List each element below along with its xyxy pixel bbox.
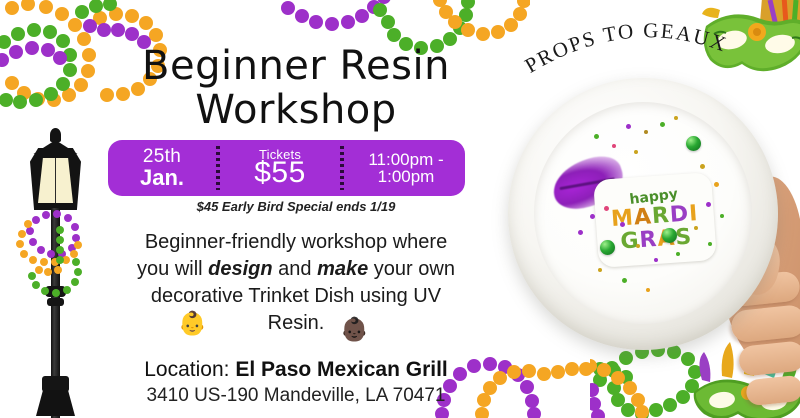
brand-arc-label: PROPS TO GEAUX bbox=[521, 18, 731, 77]
description-line-2-e: your own bbox=[368, 258, 455, 280]
description-emphasis-design: design bbox=[208, 258, 272, 280]
early-bird-note: $45 Early Bird Special ends 1/19 bbox=[96, 199, 496, 214]
description-line-2-c: and bbox=[273, 258, 317, 280]
event-details-banner: 25th Jan. Tickets $55 11:00pm - 1:00pm bbox=[108, 140, 465, 196]
page-title: Beginner Resin Workshop bbox=[96, 44, 496, 132]
event-time-end: 1:00pm bbox=[344, 168, 468, 185]
trinket-dish-photo: happy MARDI GRAS bbox=[498, 70, 800, 370]
sticker-gras-text: GRAS bbox=[620, 226, 693, 253]
location-line: Location: El Paso Mexican Grill bbox=[86, 358, 506, 382]
green-bead-1 bbox=[686, 136, 701, 151]
green-bead-2 bbox=[662, 228, 677, 243]
venue-address: 3410 US-190 Mandeville, LA 70471 bbox=[86, 385, 506, 407]
description-line-1: Beginner-friendly workshop where bbox=[86, 229, 506, 256]
venue-name: El Paso Mexican Grill bbox=[235, 358, 447, 381]
ceramic-dish: happy MARDI GRAS bbox=[508, 78, 778, 350]
ticket-price-block: Tickets $55 bbox=[220, 148, 340, 188]
king-cake-baby-icon-light: 👶 bbox=[178, 312, 207, 335]
ticket-price: $55 bbox=[220, 158, 340, 188]
dish-resin-surface: happy MARDI GRAS bbox=[534, 102, 752, 324]
description-line-4: Resin. bbox=[86, 310, 506, 337]
workshop-description: Beginner-friendly workshop where you wil… bbox=[86, 229, 506, 337]
description-line-3: decorative Trinket Dish using UV bbox=[86, 283, 506, 310]
event-month: Jan. bbox=[108, 167, 216, 189]
event-day: 25th bbox=[108, 147, 216, 166]
title-line-2: Workshop bbox=[96, 88, 496, 132]
description-line-2: you will design and make your own bbox=[86, 256, 506, 283]
location-label: Location: bbox=[144, 358, 235, 381]
title-line-1: Beginner Resin bbox=[142, 43, 450, 89]
event-date: 25th Jan. bbox=[108, 147, 216, 189]
event-time-start: 11:00pm - bbox=[344, 151, 468, 168]
flyer-canvas: Beginner Resin Workshop 25th Jan. Ticket… bbox=[0, 0, 800, 418]
king-cake-baby-icon-dark: 👶🏿 bbox=[340, 318, 369, 341]
description-emphasis-make: make bbox=[317, 258, 368, 280]
description-line-2-a: you will bbox=[137, 258, 208, 280]
event-time: 11:00pm - 1:00pm bbox=[344, 151, 468, 185]
green-bead-3 bbox=[600, 240, 615, 255]
